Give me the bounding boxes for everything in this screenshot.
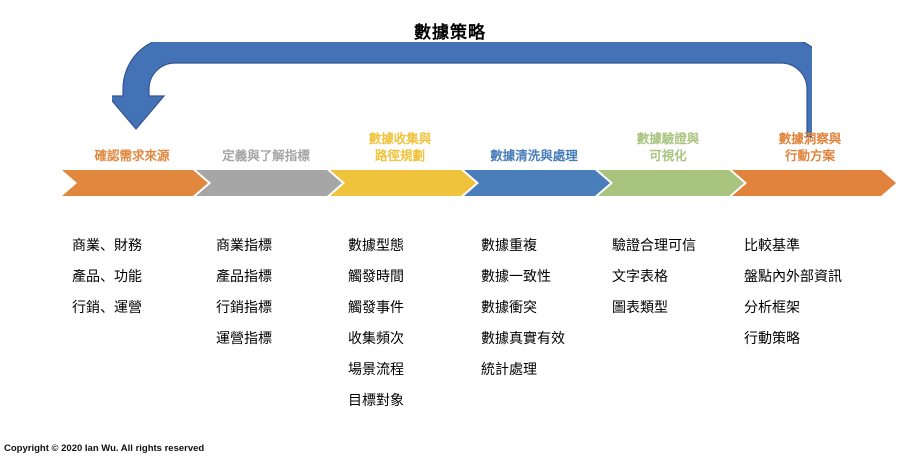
list-item: 文字表格	[612, 261, 696, 292]
stage-label-line: 數據驗證與	[598, 131, 738, 148]
list-item: 數據真實有效	[481, 323, 565, 354]
stage-label-data-validation-visualization: 數據驗證與 可視化	[598, 131, 738, 165]
list-item: 分析框架	[744, 292, 842, 323]
chevron-stage-4[interactable]	[464, 170, 610, 196]
stage-label-data-insight-action-plan: 數據洞察與 行動方案	[730, 131, 890, 165]
list-item: 數據衝突	[481, 292, 565, 323]
chevron-stage-3[interactable]	[330, 170, 476, 196]
stage-label-line: 行動方案	[730, 148, 890, 165]
list-item: 目標對象	[348, 385, 404, 416]
list-item: 商業、財務	[72, 230, 142, 261]
list-item: 統計處理	[481, 354, 565, 385]
list-item: 行銷指標	[216, 292, 272, 323]
slide-canvas: 數據策略	[0, 0, 900, 463]
column-data-collection-path-planning: 數據型態 觸發時間 觸發事件 收集頻次 場景流程 目標對象	[348, 230, 404, 416]
list-item: 產品、功能	[72, 261, 142, 292]
feedback-loop-arrow	[112, 42, 812, 137]
stage-label-confirm-demand-source: 確認需求來源	[62, 148, 202, 165]
column-define-understand-metrics: 商業指標 產品指標 行銷指標 運營指標	[216, 230, 272, 354]
list-item: 數據重複	[481, 230, 565, 261]
stage-label-data-collection-path-planning: 數據收集與 路徑規劃	[330, 131, 470, 165]
list-item: 觸發事件	[348, 292, 404, 323]
copyright-footer: Copyright © 2020 Ian Wu. All rights rese…	[4, 443, 204, 454]
stage-label-line: 可視化	[598, 148, 738, 165]
stage-label-define-understand-metrics: 定義與了解指標	[196, 148, 336, 165]
list-item: 圖表類型	[612, 292, 696, 323]
stage-label-line: 確認需求來源	[62, 148, 202, 165]
chevron-stage-2[interactable]	[196, 170, 342, 196]
list-item: 產品指標	[216, 261, 272, 292]
column-confirm-demand-source: 商業、財務 產品、功能 行銷、運營	[72, 230, 142, 323]
list-item: 商業指標	[216, 230, 272, 261]
chevron-stage-1[interactable]	[62, 170, 208, 196]
list-item: 收集頻次	[348, 323, 404, 354]
stage-label-line: 數據洞察與	[730, 131, 890, 148]
column-data-validation-visualization: 驗證合理可信 文字表格 圖表類型	[612, 230, 696, 323]
stage-label-data-cleaning-processing: 數據清洗與處理	[464, 148, 604, 165]
list-item: 數據型態	[348, 230, 404, 261]
stage-label-line: 數據收集與	[330, 131, 470, 148]
stage-label-line: 路徑規劃	[330, 148, 470, 165]
list-item: 驗證合理可信	[612, 230, 696, 261]
process-chevron-band	[62, 170, 896, 196]
list-item: 比較基準	[744, 230, 842, 261]
column-data-insight-action-plan: 比較基準 盤點內外部資訊 分析框架 行動策略	[744, 230, 842, 354]
stage-label-line: 數據清洗與處理	[464, 148, 604, 165]
chevron-stage-6[interactable]	[732, 170, 896, 196]
stage-label-line: 定義與了解指標	[196, 148, 336, 165]
list-item: 行動策略	[744, 323, 842, 354]
list-item: 行銷、運營	[72, 292, 142, 323]
list-item: 場景流程	[348, 354, 404, 385]
chevron-stage-5[interactable]	[598, 170, 744, 196]
page-title: 數據策略	[0, 18, 900, 43]
list-item: 盤點內外部資訊	[744, 261, 842, 292]
column-data-cleaning-processing: 數據重複 數據一致性 數據衝突 數據真實有效 統計處理	[481, 230, 565, 385]
list-item: 運營指標	[216, 323, 272, 354]
list-item: 數據一致性	[481, 261, 565, 292]
list-item: 觸發時間	[348, 261, 404, 292]
